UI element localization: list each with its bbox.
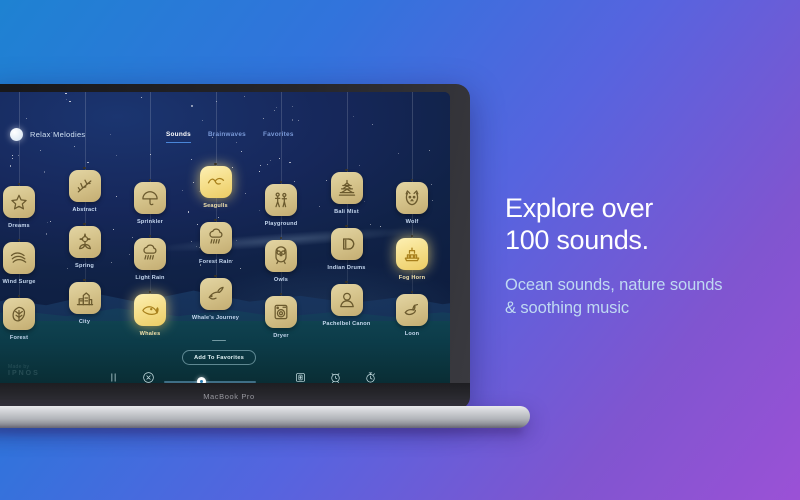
- subheadline-line-2: & soothing music: [505, 297, 790, 320]
- sound-tile-dreams[interactable]: Dreams: [0, 186, 50, 229]
- star-icon[interactable]: [3, 186, 35, 218]
- rain-cloud-icon[interactable]: [134, 238, 166, 270]
- app-brand: Relax Melodies: [10, 128, 85, 141]
- sound-tile-wolf[interactable]: Wolf: [381, 182, 443, 225]
- pagoda-icon[interactable]: [331, 172, 363, 204]
- sound-tile-label: Loon: [381, 331, 443, 337]
- sound-tile-label: City: [54, 319, 116, 325]
- wind-icon[interactable]: [3, 242, 35, 274]
- sound-tile-label: Playground: [250, 221, 312, 227]
- loon-icon[interactable]: [396, 294, 428, 326]
- sound-tile-label: Fog Horn: [381, 275, 443, 281]
- headline-line-1: Explore over: [505, 192, 790, 224]
- sound-tile-loon[interactable]: Loon: [381, 294, 443, 337]
- sound-tile-whale-s-journey[interactable]: Whale's Journey: [185, 278, 247, 321]
- tab-sounds[interactable]: Sounds: [166, 131, 191, 143]
- sound-tile-label: Sprinkler: [119, 219, 181, 225]
- sound-tile-label: Indian Drums: [316, 265, 378, 271]
- macbook-pro-mockup: Relax Melodies SoundsBrainwavesFavorites…: [0, 84, 488, 429]
- sound-tile-abstract[interactable]: Abstract: [54, 170, 116, 213]
- seagull-icon[interactable]: [200, 166, 232, 198]
- laptop-shadow: [0, 427, 522, 437]
- sound-tile-label: Wolf: [381, 219, 443, 225]
- city-icon[interactable]: [69, 282, 101, 314]
- whale-tail-icon[interactable]: [200, 278, 232, 310]
- drum-icon[interactable]: [331, 228, 363, 260]
- moon-icon: [10, 128, 23, 141]
- sound-tile-forest-rain[interactable]: Forest Rain: [185, 222, 247, 265]
- sound-tile-playground[interactable]: Playground: [250, 184, 312, 227]
- sound-tile-label: Seagulls: [185, 203, 247, 209]
- owl-icon[interactable]: [265, 240, 297, 272]
- sound-tile-label: Whale's Journey: [185, 315, 247, 321]
- sound-grid[interactable]: Dreams Abstract Sprinkler Seagulls Playg…: [0, 148, 450, 338]
- sound-tile-whales[interactable]: Whales: [119, 294, 181, 337]
- sound-tile-indian-drums[interactable]: Indian Drums: [316, 228, 378, 271]
- sound-tile-label: Owls: [250, 277, 312, 283]
- headline-line-2: 100 sounds.: [505, 224, 790, 256]
- branch-icon[interactable]: [69, 170, 101, 202]
- promo-banner: Relax Melodies SoundsBrainwavesFavorites…: [0, 0, 800, 500]
- wolf-icon[interactable]: [396, 182, 428, 214]
- sound-tile-label: Wind Surge: [0, 279, 50, 285]
- children-icon[interactable]: [265, 184, 297, 216]
- sound-tile-label: Forest: [0, 335, 50, 341]
- promo-copy: Explore over 100 sounds. Ocean sounds, n…: [505, 192, 790, 320]
- headline: Explore over 100 sounds.: [505, 192, 790, 256]
- leaf-icon[interactable]: [3, 298, 35, 330]
- sound-tile-fog-horn[interactable]: Fog Horn: [381, 238, 443, 281]
- sound-tile-label: Spring: [54, 263, 116, 269]
- sound-tile-label: Whales: [119, 331, 181, 337]
- laptop-base: [0, 406, 530, 428]
- add-to-favorites-button[interactable]: Add To Favorites: [182, 350, 256, 365]
- subheadline: Ocean sounds, nature sounds & soothing m…: [505, 274, 790, 320]
- sound-tile-sprinkler[interactable]: Sprinkler: [119, 182, 181, 225]
- sound-tile-forest[interactable]: Forest: [0, 298, 50, 341]
- sound-tile-dryer[interactable]: Dryer: [250, 296, 312, 339]
- flower-icon[interactable]: [69, 226, 101, 258]
- sound-tile-seagulls[interactable]: Seagulls: [185, 166, 247, 209]
- app-screen: Relax Melodies SoundsBrainwavesFavorites…: [0, 92, 450, 399]
- sound-tile-label: Bali Mist: [316, 209, 378, 215]
- sound-tile-label: Abstract: [54, 207, 116, 213]
- tab-brainwaves[interactable]: Brainwaves: [208, 131, 246, 143]
- sound-tile-city[interactable]: City: [54, 282, 116, 325]
- sound-tile-owls[interactable]: Owls: [250, 240, 312, 283]
- subheadline-line-1: Ocean sounds, nature sounds: [505, 274, 790, 297]
- sound-tile-bali-mist[interactable]: Bali Mist: [316, 172, 378, 215]
- sound-tile-label: Forest Rain: [185, 259, 247, 265]
- laptop-lid: Relax Melodies SoundsBrainwavesFavorites…: [0, 84, 470, 409]
- sound-tile-label: Light Rain: [119, 275, 181, 281]
- sound-tile-wind-surge[interactable]: Wind Surge: [0, 242, 50, 285]
- sound-tile-pachelbel-canon[interactable]: Pachelbel Canon: [316, 284, 378, 327]
- rain-cloud-icon[interactable]: [200, 222, 232, 254]
- nav-tabs[interactable]: SoundsBrainwavesFavorites: [166, 131, 294, 143]
- macbook-pro-label: MacBook Pro: [203, 392, 255, 401]
- washer-icon[interactable]: [265, 296, 297, 328]
- umbrella-icon[interactable]: [134, 182, 166, 214]
- app-brand-label: Relax Melodies: [30, 130, 85, 139]
- sound-tile-light-rain[interactable]: Light Rain: [119, 238, 181, 281]
- sound-tile-label: Pachelbel Canon: [316, 321, 378, 327]
- sound-tile-spring[interactable]: Spring: [54, 226, 116, 269]
- sound-tile-label: Dryer: [250, 333, 312, 339]
- sound-tile-label: Dreams: [0, 223, 50, 229]
- tab-favorites[interactable]: Favorites: [263, 131, 294, 143]
- person-icon[interactable]: [331, 284, 363, 316]
- boat-icon[interactable]: [396, 238, 428, 270]
- whale-icon[interactable]: [134, 294, 166, 326]
